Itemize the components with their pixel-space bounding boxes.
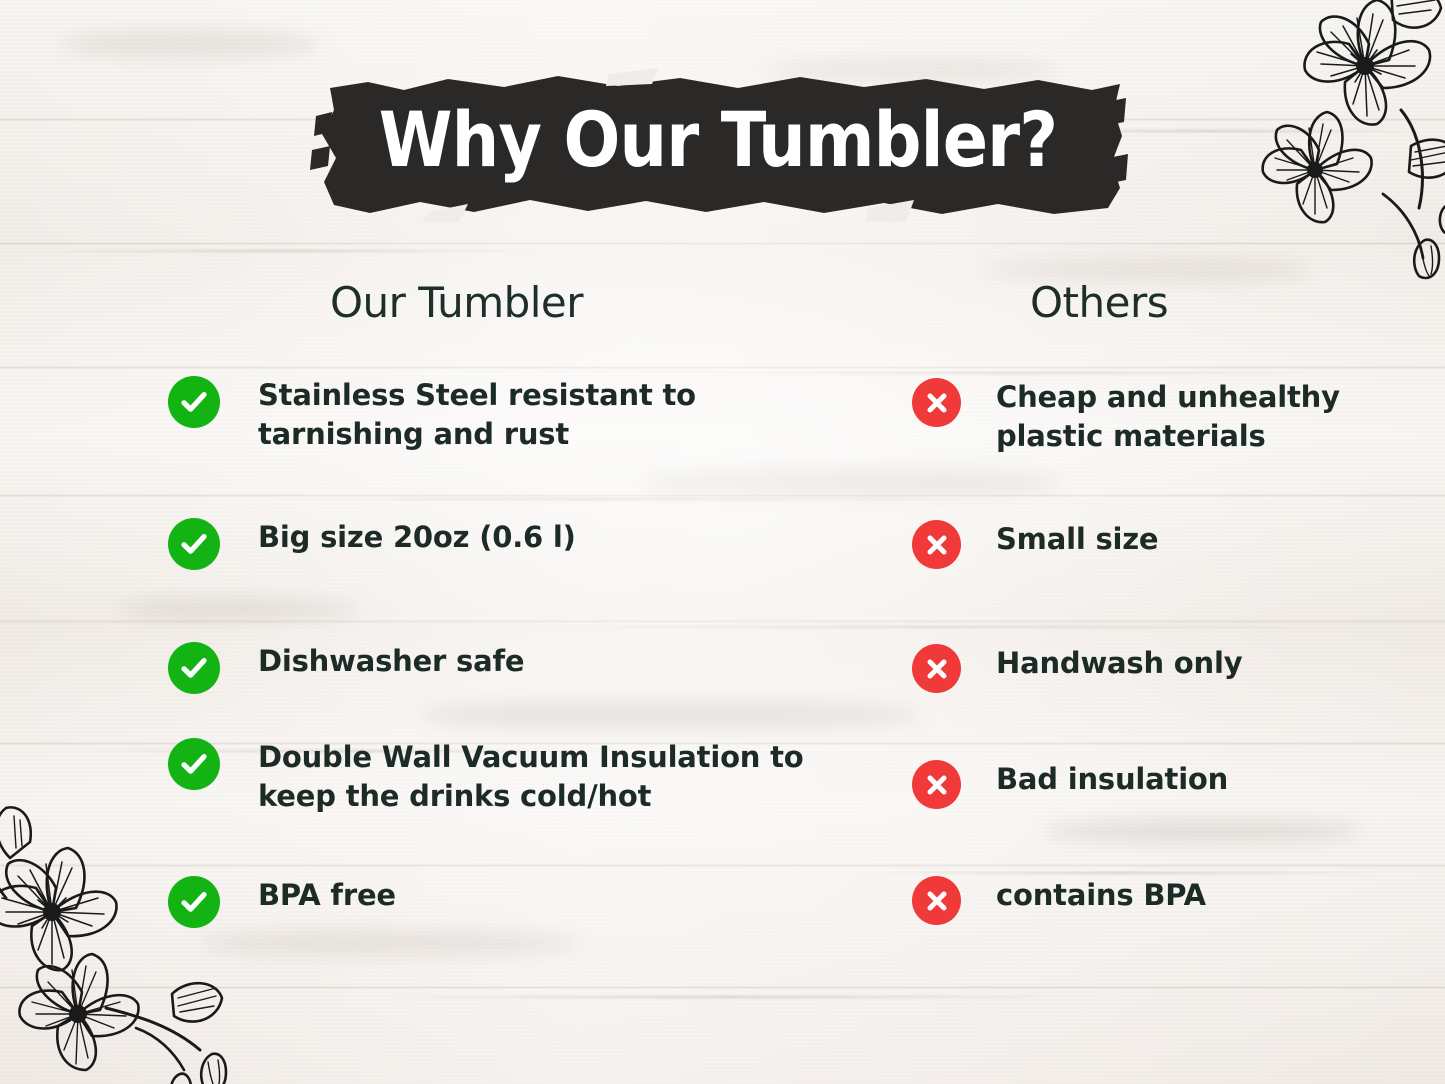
column-header-others: Others — [1030, 278, 1168, 327]
plank-seam — [0, 620, 1445, 623]
poster-canvas: Why Our Tumbler? Our Tumbler Others Stai… — [0, 0, 1445, 1084]
list-item: Small size — [912, 520, 1158, 569]
cross-circle-icon — [912, 520, 961, 569]
list-item: Cheap and unhealthy plastic materials — [912, 378, 1340, 455]
plank-seam — [0, 986, 1445, 989]
wood-streak — [860, 872, 1380, 874]
wood-streak — [260, 498, 960, 500]
cross-circle-icon — [912, 760, 961, 809]
cross-circle-icon — [912, 644, 961, 693]
list-item-label: Double Wall Vacuum Insulation to keep th… — [258, 738, 804, 815]
list-item-label: Handwash only — [996, 644, 1242, 683]
wood-grain — [640, 470, 1060, 496]
plank-seam — [0, 242, 1445, 245]
wood-streak — [380, 996, 1080, 998]
check-circle-icon — [168, 876, 220, 928]
list-item: Handwash only — [912, 644, 1242, 693]
cross-circle-icon — [912, 378, 961, 427]
wood-grain — [420, 700, 920, 730]
list-item-label: Small size — [996, 520, 1158, 559]
cross-circle-icon — [912, 876, 961, 925]
list-item-label: Dishwasher safe — [258, 642, 524, 681]
list-item: contains BPA — [912, 876, 1206, 925]
wood-grain — [1040, 820, 1360, 842]
plank-seam — [0, 494, 1445, 497]
wood-grain — [200, 930, 580, 956]
list-item-label: Cheap and unhealthy plastic materials — [996, 378, 1340, 455]
list-item: Stainless Steel resistant to tarnishing … — [168, 376, 696, 453]
list-item-label: Bad insulation — [996, 760, 1228, 799]
check-circle-icon — [168, 376, 220, 428]
title-banner: Why Our Tumbler? — [308, 62, 1128, 222]
wood-streak — [700, 372, 1320, 374]
list-item: Double Wall Vacuum Insulation to keep th… — [168, 738, 804, 815]
page-title: Why Our Tumbler? — [357, 62, 1079, 222]
check-circle-icon — [168, 738, 220, 790]
list-item-label: Stainless Steel resistant to tarnishing … — [258, 376, 696, 453]
wood-grain — [60, 30, 320, 58]
plank-seam — [0, 366, 1445, 369]
plank-seam — [0, 864, 1445, 867]
list-item-label: Big size 20oz (0.6 l) — [258, 518, 576, 557]
list-item-label: contains BPA — [996, 876, 1206, 915]
check-circle-icon — [168, 642, 220, 694]
list-item: Bad insulation — [912, 760, 1228, 809]
check-circle-icon — [168, 518, 220, 570]
list-item: Big size 20oz (0.6 l) — [168, 518, 576, 570]
list-item: Dishwasher safe — [168, 642, 524, 694]
wood-grain — [120, 600, 360, 618]
wood-streak — [520, 626, 1340, 628]
list-item: BPA free — [168, 876, 396, 928]
column-header-our-tumbler: Our Tumbler — [330, 278, 583, 327]
wood-streak — [30, 250, 550, 252]
list-item-label: BPA free — [258, 876, 396, 915]
